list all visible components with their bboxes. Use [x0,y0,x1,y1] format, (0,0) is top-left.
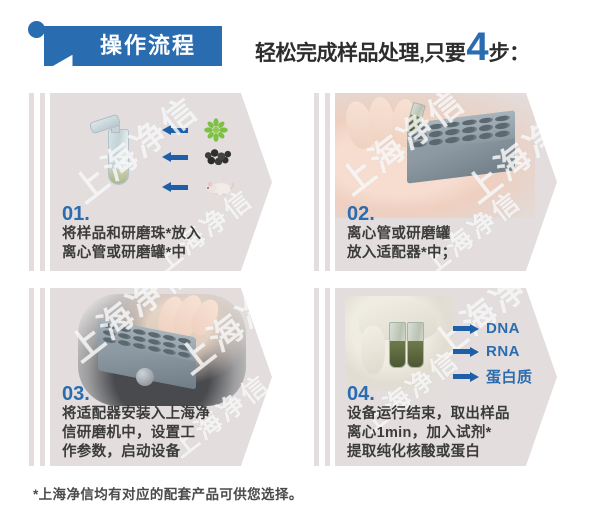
step-1-text: 01. 将样品和研磨珠*放入 离心管或研磨罐*中 [62,203,201,263]
gloved-thumb [361,326,385,374]
step-4-description: 设备运行结束，取出样品 离心1min，加入试剂* 提取纯化核酸或蛋白 [347,405,510,462]
panel-stripe [40,93,45,271]
step1-illustration [50,93,272,213]
sample-tube [407,322,424,368]
step-3-number: 03. [62,383,210,405]
step-3-text: 03. 将适配器安装入上海净 信研磨机中，设置工 作参数，启动设备 [62,383,210,462]
step-2-text: 02. 离心管或研磨罐 放入适配器*中； [347,203,457,263]
beads-icon [204,149,232,165]
arrow-right-icon [453,323,479,334]
sample-row-beads [162,149,232,165]
panel-stripe [325,288,330,466]
arrow-left-icon [162,125,188,136]
panel-stripes-2 [307,93,333,271]
arrow-right-icon [453,346,479,357]
mouse-icon [204,178,234,196]
output-label-rna: RNA [486,343,520,360]
step-1-number: 01. [62,203,201,225]
panel-stripes-4 [307,288,333,466]
panel-stripe [40,288,45,466]
arrow-right-icon [453,371,479,382]
centrifuge-tube-icon [102,115,132,187]
adapter-block [407,110,515,183]
panel-stripes-1 [22,93,48,271]
panel-stripe [29,93,34,271]
footnote: *上海净信均有对应的配套产品可供您选择。 [33,483,303,503]
step-panel-4: DNA RNA 蛋白质 上海净信 上海净信 04. 设备运行结束，取出样品 离心… [307,288,557,466]
step-2-description: 离心管或研磨罐 放入适配器*中； [347,225,457,263]
headline-prefix: 轻松完成样品处理,只要 [255,37,465,67]
headline-suffix: 步： [489,37,530,67]
header: 操作流程 轻松完成样品处理,只要 4 步： [0,0,600,90]
banner-dot-icon [28,21,45,38]
output-row-rna: RNA [453,343,533,360]
step-4-text: 04. 设备运行结束，取出样品 离心1min，加入试剂* 提取纯化核酸或蛋白 [347,383,510,462]
output-label-dna: DNA [486,320,520,337]
gloved-hand-holding-sample-tubes-photo [345,296,455,391]
step-panel-2: 上海净信 上海净信 上海净信 02. 离心管或研磨罐 放入适配器*中； [307,93,557,271]
panel-stripe [314,288,319,466]
hand-with-adapter-block-photo [335,93,535,218]
step-3-description: 将适配器安装入上海净 信研磨机中，设置工 作参数，启动设备 [62,405,210,462]
sample-row-plant [162,118,228,142]
step-1-description: 将样品和研磨珠*放入 离心管或研磨罐*中 [62,225,201,263]
sample-tube [389,322,406,368]
banner-title: 操作流程 [78,29,218,63]
panel-stripes-3 [22,288,48,466]
arrow-left-icon [162,152,188,163]
arrow-left-icon [162,182,188,193]
panel-stripe [314,93,319,271]
step-2-number: 02. [347,203,457,225]
step-panel-1: 上海净信 上海净信 01. 将样品和研磨珠*放入 离心管或研磨罐*中 [22,93,272,271]
step-4-number: 04. [347,383,510,405]
step-panel-3: 上海净信 上海净信 上海净信 03. 将适配器安装入上海净 信研磨机中，设置工 … [22,288,272,466]
sample-row-animal [162,178,234,196]
headline-step-count: 4 [466,31,487,63]
output-row-dna: DNA [453,320,533,337]
panel-stripe [325,93,330,271]
output-list: DNA RNA 蛋白质 [453,320,533,387]
headline: 轻松完成样品处理,只要 4 步： [255,31,530,67]
panel-stripe [29,288,34,466]
leaf-icon [204,118,228,142]
